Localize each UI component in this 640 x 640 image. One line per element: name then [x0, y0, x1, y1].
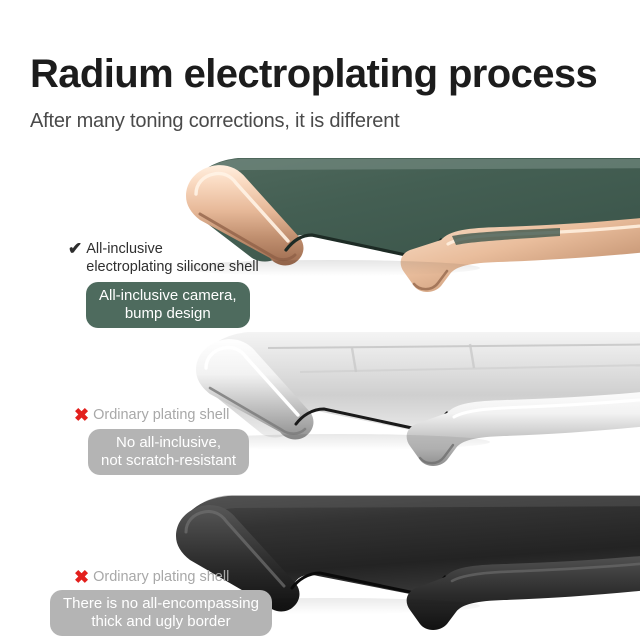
annotation-heading: ✖ Ordinary plating shell: [74, 406, 249, 424]
status-badge: There is no all-encompassing thick and u…: [50, 590, 272, 636]
cross-icon: ✖: [74, 406, 89, 424]
annotation-all-inclusive: ✔ All-inclusive electroplating silicone …: [68, 240, 259, 328]
page-subtitle: After many toning corrections, it is dif…: [30, 110, 400, 133]
annotation-ordinary-plating: ✖ Ordinary plating shell No all-inclusiv…: [74, 406, 249, 475]
annotation-label: Ordinary plating shell: [93, 568, 229, 586]
status-badge: All-inclusive camera, bump design: [86, 282, 250, 328]
silver-case-group: [190, 332, 640, 466]
cross-icon: ✖: [74, 568, 89, 586]
status-badge: No all-inclusive, not scratch-resistant: [88, 429, 249, 475]
product-feature-graphic: Radium electroplating process After many…: [0, 0, 640, 640]
annotation-label: Ordinary plating shell: [93, 406, 229, 424]
annotation-heading: ✖ Ordinary plating shell: [74, 568, 272, 586]
annotation-ordinary-plating-black: ✖ Ordinary plating shell There is no all…: [74, 568, 272, 636]
page-title: Radium electroplating process: [30, 52, 597, 97]
annotation-label: All-inclusive electroplating silicone sh…: [86, 240, 259, 276]
check-icon: ✔: [68, 240, 82, 258]
annotation-heading: ✔ All-inclusive electroplating silicone …: [68, 240, 259, 276]
